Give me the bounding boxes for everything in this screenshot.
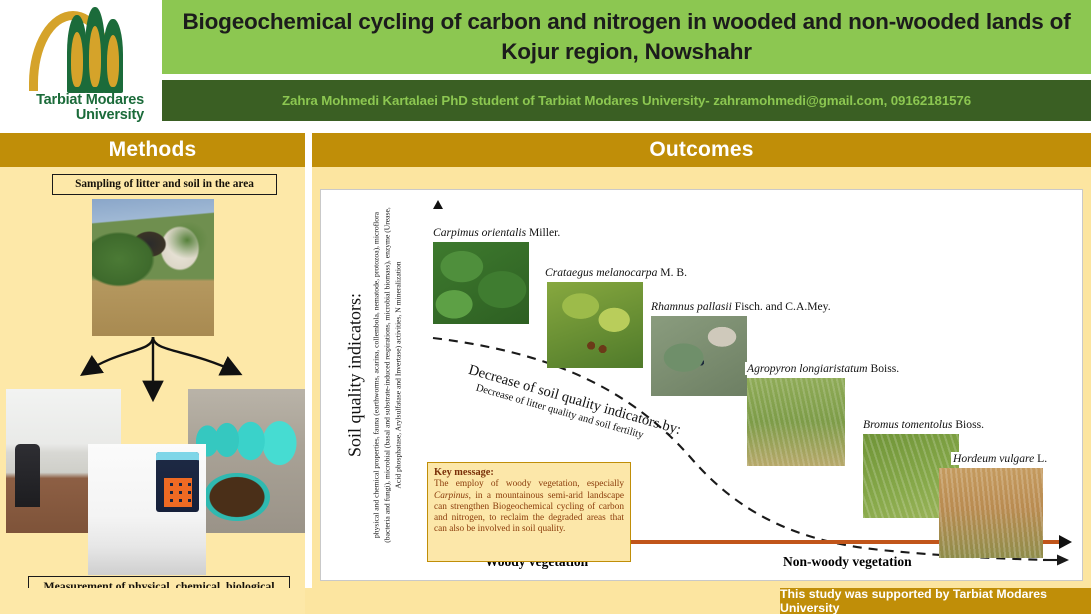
logo-text-line2: University [18,108,144,123]
y-axis-label-detail: physical and chemical properties, fauna … [371,200,404,550]
logo-cypress-center-icon [85,7,105,93]
x-axis-label-non-woody: Non-woody vegetation [783,554,912,570]
species-label-carpinus: Carpimus orientalis Miller. [431,226,562,239]
field-sampling-photo [92,199,214,336]
species-label-agropyron: Agropyron longiaristatum Boiss. [745,362,901,375]
funding-footer: This study was supported by Tarbiat Moda… [780,588,1091,614]
methods-panel-footer-fill [0,588,305,614]
species-name-5: Bromus tomentolus [863,418,952,431]
species-name-6: Hordeum vulgare [953,452,1034,465]
species-name-1: Carpimus orientalis [433,226,526,239]
species-name-2: Crataegus melanocarpa [545,266,657,279]
funding-footer-text: This study was supported by Tarbiat Moda… [780,587,1091,614]
crataegus-photo [547,282,643,368]
y-axis-label: Soil quality indicators: [345,293,366,457]
species-authority-6: L. [1037,452,1047,465]
logo-text-line1: Tarbiat Modares [18,93,144,108]
methods-section-header: Methods [0,133,305,167]
soil-quality-gradient-chart: Soil quality indicators: physical and ch… [320,189,1083,581]
species-label-crataegus: Crataegus melanocarpa M. B. [543,266,689,279]
rhamnus-photo [651,316,747,396]
kjeldahl-apparatus-photo [88,444,206,575]
poster-root: Tarbiat Modares University Biogeochemica… [0,0,1091,614]
author-line: Zahra Mohmedi Kartalaei PhD student of T… [282,93,971,108]
species-authority-1: Miller. [529,226,560,239]
species-authority-3: Fisch. and C.A.Mey. [735,300,831,313]
logo-cypress-left-icon [67,15,87,93]
logo-cypress-right-icon [103,19,123,93]
species-name-3: Rhamnus pallasii [651,300,732,313]
species-authority-5: Bioss. [955,418,984,431]
species-label-bromus: Bromus tomentolus Bioss. [861,418,986,431]
key-message-italic-term: Carpinus [434,491,469,501]
poster-title: Biogeochemical cycling of carbon and nit… [162,7,1091,67]
methods-title: Methods [109,138,197,162]
methods-panel: Sampling of litter and soil in the area … [0,167,305,614]
key-message-text: The employ of woody vegetation, especial… [434,479,624,535]
key-message-box: Key message: The employ of woody vegetat… [427,462,631,562]
outcomes-title: Outcomes [649,138,753,162]
hordeum-photo [939,468,1043,558]
university-logo: Tarbiat Modares University [0,0,162,130]
species-name-4: Agropyron longiaristatum [747,362,868,375]
y-axis-arrow-icon [433,200,443,209]
species-authority-4: Boiss. [870,362,899,375]
outcomes-panel: Soil quality indicators: physical and ch… [312,167,1091,588]
y-axis-group: Soil quality indicators: physical and ch… [337,196,423,554]
author-bar: Zahra Mohmedi Kartalaei PhD student of T… [162,80,1091,121]
logo-mark-icon [21,7,141,93]
key-message-part1: The employ of woody vegetation, especial… [434,479,624,489]
agropyron-photo [747,378,845,466]
outcomes-section-header: Outcomes [312,133,1091,167]
key-message-heading: Key message: [434,467,624,478]
outcomes-panel-footer-fill [305,588,780,614]
logo-text: Tarbiat Modares University [18,93,144,123]
poster-title-bar: Biogeochemical cycling of carbon and nit… [162,0,1091,74]
species-label-hordeum: Hordeum vulgare L. [951,452,1049,465]
carpinus-photo [433,242,529,324]
curve-annotation: Decrease of soil quality indicators by: … [463,362,683,451]
methods-caption-top: Sampling of litter and soil in the area [52,174,277,195]
species-authority-2: M. B. [660,266,687,279]
species-label-rhamnus: Rhamnus pallasii Fisch. and C.A.Mey. [649,300,833,313]
